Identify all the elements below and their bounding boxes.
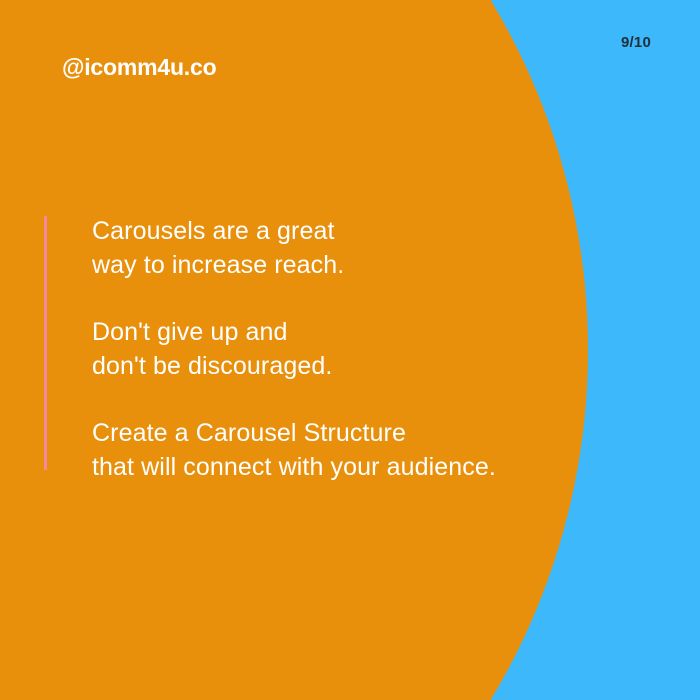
accent-bar bbox=[44, 216, 47, 470]
body-copy: Carousels are a great way to increase re… bbox=[92, 214, 652, 484]
body-paragraph: Create a Carousel Structure that will co… bbox=[92, 416, 652, 484]
carousel-slide: @icomm4u.co 9/10 Carousels are a great w… bbox=[0, 0, 700, 700]
body-paragraph: Don't give up and don't be discouraged. bbox=[92, 315, 652, 383]
page-counter: 9/10 bbox=[621, 34, 651, 51]
body-paragraph: Carousels are a great way to increase re… bbox=[92, 214, 652, 282]
account-handle: @icomm4u.co bbox=[62, 54, 216, 81]
